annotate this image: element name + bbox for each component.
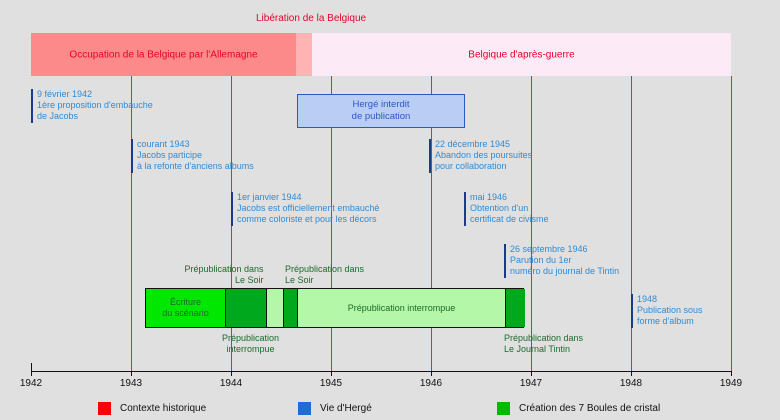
band-segment-prepub-lesoir-1 (225, 289, 267, 327)
axis-tick-1948 (631, 371, 632, 376)
event-line2: Publication sous (637, 305, 703, 316)
band-divider (266, 289, 267, 327)
band-segment-label-line1: Écriture (170, 297, 201, 308)
legend-item-vie-dherge: Vie d'Hergé (298, 402, 372, 415)
event-date: courant 1943 (137, 139, 254, 150)
event-line2: Abandon des poursuites (435, 150, 532, 161)
event-date: mai 1946 (470, 192, 549, 203)
axis-label-1947: 1947 (520, 378, 542, 389)
band-segment-interrompue-1 (267, 289, 283, 327)
event-1948-album: 1948 Publication sous forme d'album (631, 294, 703, 328)
axis-tick-1944 (231, 371, 232, 376)
band-segment-prepub-journal-tintin (505, 289, 525, 327)
event-date: 9 février 1942 (37, 89, 153, 100)
event-1946-05: mai 1946 Obtention d'un certificat de ci… (464, 192, 549, 226)
axis-label-1942: 1942 (20, 378, 42, 389)
band-segment-prepub-interrompue: Prépublication interrompue (298, 289, 505, 327)
event-date: 1948 (637, 294, 703, 305)
axis-label-1943: 1943 (120, 378, 142, 389)
axis-label-1949: 1949 (720, 378, 742, 389)
event-1943-courant: courant 1943 Jacobs participe à la refon… (131, 139, 254, 173)
event-date: 26 septembre 1946 (510, 244, 619, 255)
event-1945-12-22: 22 décembre 1945 Abandon des poursuites … (429, 139, 532, 173)
era-label-postwar: Belgique d'après-guerre (312, 49, 731, 60)
liberation-marker-label: Libération de la Belgique (256, 13, 366, 24)
event-line2: Jacobs est officiellement embauché (237, 203, 379, 214)
band-note-line1: Prépublication dans (504, 333, 583, 344)
legend-swatch-icon (497, 402, 510, 415)
band-note-prepub-lesoir-1: Prépublication dans Le Soir (184, 264, 263, 286)
event-line3: à la refonte d'anciens albums (137, 161, 254, 172)
axis-line (31, 371, 731, 372)
event-1942-02-09: 9 février 1942 1ère proposition d'embauc… (31, 89, 153, 123)
band-note-line2: Le Soir (184, 275, 263, 286)
axis-tick-1943 (131, 371, 132, 376)
event-line3: forme d'album (637, 316, 703, 327)
axis-label-1944: 1944 (220, 378, 242, 389)
axis-tick-1942 (31, 371, 32, 376)
event-date: 1er janvier 1944 (237, 192, 379, 203)
event-line2: Obtention d'un (470, 203, 549, 214)
block-herge-interdit: Hergé interdit de publication (297, 94, 465, 128)
axis-tick-1946 (431, 371, 432, 376)
event-line2: Jacobs participe (137, 150, 254, 161)
production-band: Écriture du scénario Prépublication inte… (145, 288, 524, 328)
event-1946-09-26: 26 septembre 1946 Parution du 1er numéro… (504, 244, 619, 278)
event-line3: pour collaboration (435, 161, 532, 172)
gridline-1949 (731, 76, 732, 371)
band-divider (283, 289, 284, 327)
legend-label: Vie d'Hergé (320, 403, 372, 414)
event-date: 22 décembre 1945 (435, 139, 532, 150)
herge-box-line2: de publication (352, 111, 411, 123)
event-line3: certificat de civisme (470, 214, 549, 225)
band-segment-label-line2: du scénario (162, 308, 209, 319)
band-note-prepub-lesoir-2: Prépublication dans Le Soir (285, 264, 364, 286)
event-line2: 1ère proposition d'embauche (37, 100, 153, 111)
era-label-occupation: Occupation de la Belgique par l'Allemagn… (31, 49, 296, 60)
band-divider (505, 289, 506, 327)
axis-label-1948: 1948 (620, 378, 642, 389)
axis-label-1945: 1945 (320, 378, 342, 389)
axis-label-1946: 1946 (420, 378, 442, 389)
legend-swatch-icon (98, 402, 111, 415)
era-bar-postwar: Belgique d'après-guerre (312, 33, 731, 76)
legend-swatch-icon (298, 402, 311, 415)
event-line2: Parution du 1er (510, 255, 619, 266)
legend-label: Création des 7 Boules de cristal (519, 403, 660, 414)
timeline-chart: Libération de la Belgique Occupation de … (0, 0, 780, 420)
event-line3: numéro du journal de Tintin (510, 266, 619, 277)
legend-item-contexte-historique: Contexte historique (98, 402, 206, 415)
band-note-line1: Prépublication dans (285, 264, 364, 275)
event-line3: comme coloriste et pour les décors (237, 214, 379, 225)
legend-item-creation-7-boules: Création des 7 Boules de cristal (497, 402, 660, 415)
era-bar-occupation: Occupation de la Belgique par l'Allemagn… (31, 33, 296, 76)
band-divider (225, 289, 226, 327)
band-divider (297, 289, 298, 327)
event-line3: de Jacobs (37, 111, 153, 122)
band-segment-label: Prépublication interrompue (348, 303, 456, 314)
legend-label: Contexte historique (120, 403, 206, 414)
band-note-line2: Le Journal Tintin (504, 344, 583, 355)
band-note-line2: Le Soir (285, 275, 364, 286)
era-bar-liberation (296, 33, 312, 76)
band-segment-prepub-lesoir-2 (283, 289, 298, 327)
axis-tick-1947 (531, 371, 532, 376)
axis-tick-1949 (731, 371, 732, 376)
band-note-prepub-interrompue: Prépublication interrompue (222, 333, 279, 355)
band-note-line2: interrompue (222, 344, 279, 355)
band-note-line1: Prépublication dans (184, 264, 263, 275)
axis-tick-1945 (331, 371, 332, 376)
herge-box-line1: Hergé interdit (352, 99, 409, 111)
band-segment-ecriture-scenario: Écriture du scénario (146, 289, 225, 327)
event-1944-01-01: 1er janvier 1944 Jacobs est officielleme… (231, 192, 379, 226)
legend: Contexte historique Vie d'Hergé Création… (0, 398, 780, 420)
band-note-line1: Prépublication (222, 333, 279, 344)
band-note-prepub-journal-tintin: Prépublication dans Le Journal Tintin (504, 333, 583, 355)
